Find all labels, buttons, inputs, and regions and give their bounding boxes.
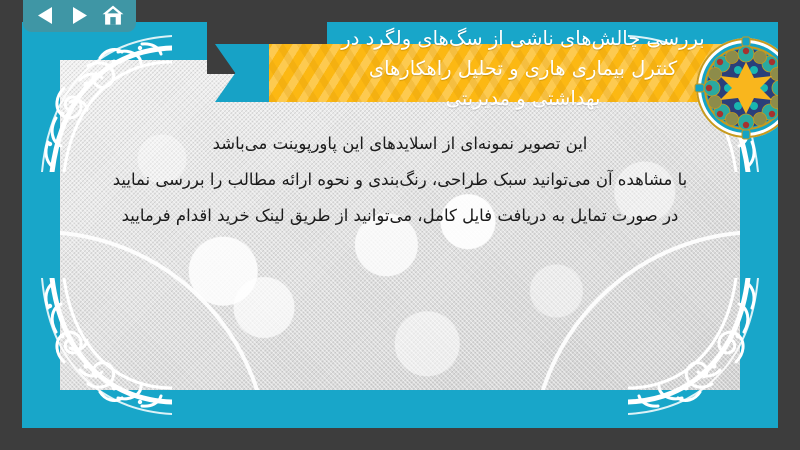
home-button[interactable] (99, 2, 127, 28)
previous-triangle-icon (37, 6, 54, 25)
slide-title-banner (207, 22, 727, 134)
slide-body-line-2: با مشاهده آن می‌توانید سبک طراحی، رنگ‌بن… (82, 162, 718, 198)
slide-body-line-3: در صورت تمایل به دریافت فایل کامل، می‌تو… (82, 198, 718, 234)
next-slide-button[interactable] (65, 2, 93, 28)
home-icon (102, 5, 124, 26)
previous-slide-button[interactable] (32, 2, 60, 28)
slide-body-text: این تصویر نمونه‌ای از اسلایدهای این پاور… (82, 126, 718, 234)
next-triangle-icon (71, 6, 88, 25)
navigation-toolbar (23, 0, 136, 32)
decorative-sweep-right (530, 230, 740, 390)
slide-canvas[interactable]: بررسی چالش‌های ناشی از سگ‌های ولگرد در ک… (22, 22, 778, 428)
banner-yellow-bar (269, 44, 727, 102)
presentation-viewer: بررسی چالش‌های ناشی از سگ‌های ولگرد در ک… (0, 0, 800, 450)
persian-medallion-ornament (694, 36, 778, 140)
decorative-sweep-left (60, 230, 270, 390)
